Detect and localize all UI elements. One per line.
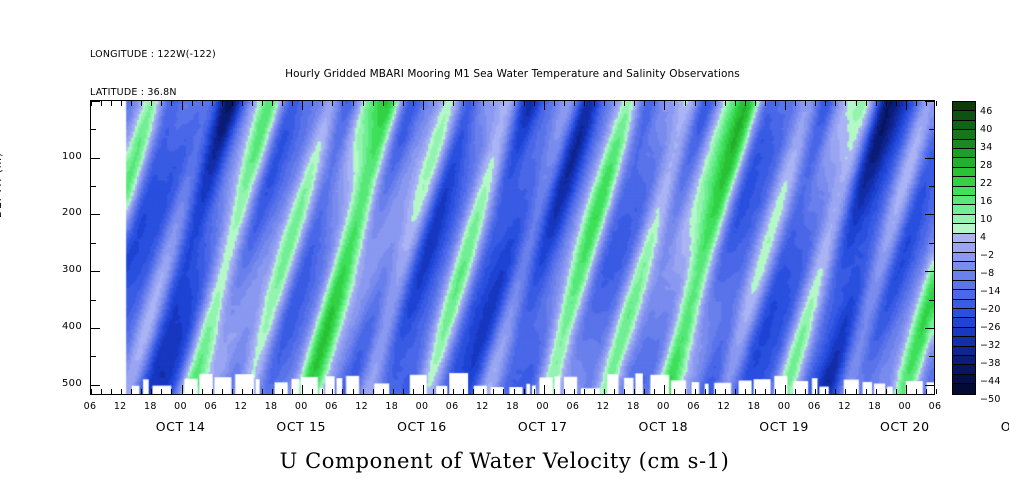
colorbar-segment bbox=[953, 318, 975, 327]
x-tick-label: 18 bbox=[740, 401, 768, 412]
colorbar-tick-label: 22 bbox=[980, 178, 993, 189]
x-tick-label: 12 bbox=[710, 401, 738, 412]
y-tick-label: 300 bbox=[42, 264, 82, 275]
colorbar-segment bbox=[953, 205, 975, 214]
x-tick-label: 00 bbox=[287, 401, 315, 412]
x-tick-label: 00 bbox=[770, 401, 798, 412]
x-tick-label: 18 bbox=[499, 401, 527, 412]
colorbar-segment bbox=[953, 384, 975, 393]
colorbar-tick-label: −14 bbox=[980, 286, 1001, 297]
x-tick-label: 06 bbox=[559, 401, 587, 412]
figure-caption: U Component of Water Velocity (cm s-1) bbox=[0, 449, 1009, 473]
colorbar-tick-label: 34 bbox=[980, 142, 993, 153]
x-tick-label: 06 bbox=[800, 401, 828, 412]
colorbar-segment bbox=[953, 290, 975, 299]
colorbar-tick-label: −38 bbox=[980, 358, 1001, 369]
colorbar-tick-label: −2 bbox=[980, 250, 994, 261]
colorbar-tick-label: −8 bbox=[980, 268, 994, 279]
colorbar-segment bbox=[953, 168, 975, 177]
colorbar-tick-label: 46 bbox=[980, 106, 993, 117]
colorbar-segment bbox=[953, 309, 975, 318]
x-tick-label: 12 bbox=[106, 401, 134, 412]
x-tick-label: 06 bbox=[197, 401, 225, 412]
colorbar-segment bbox=[953, 243, 975, 252]
y-tick-label: 400 bbox=[42, 321, 82, 332]
x-tick-label: 06 bbox=[438, 401, 466, 412]
colorbar-tick-label: −50 bbox=[980, 394, 1001, 405]
x-tick-label: 12 bbox=[589, 401, 617, 412]
x-tick-label: 00 bbox=[167, 401, 195, 412]
colorbar-segment bbox=[953, 365, 975, 374]
colorbar-segment bbox=[953, 111, 975, 120]
x-date-label: OCT 14 bbox=[126, 419, 236, 434]
x-date-label: OCT 21 bbox=[971, 419, 1009, 434]
colorbar-tick-label: 40 bbox=[980, 124, 993, 135]
velocity-heatmap bbox=[91, 101, 934, 394]
x-tick-label: 12 bbox=[468, 401, 496, 412]
x-date-label: OCT 18 bbox=[608, 419, 718, 434]
x-date-label: OCT 20 bbox=[850, 419, 960, 434]
colorbar-segment bbox=[953, 177, 975, 186]
x-date-label: OCT 15 bbox=[246, 419, 356, 434]
colorbar-tick-label: −44 bbox=[980, 376, 1001, 387]
colorbar-segment bbox=[953, 224, 975, 233]
x-tick-label: 00 bbox=[529, 401, 557, 412]
x-tick-label: 18 bbox=[136, 401, 164, 412]
colorbar-segment bbox=[953, 187, 975, 196]
colorbar-segment bbox=[953, 347, 975, 356]
colorbar-tick-label: 4 bbox=[980, 232, 986, 243]
x-date-label: OCT 17 bbox=[488, 419, 598, 434]
colorbar-segment bbox=[953, 300, 975, 309]
x-tick-label: 06 bbox=[680, 401, 708, 412]
colorbar-segment bbox=[953, 328, 975, 337]
x-tick-label: 18 bbox=[378, 401, 406, 412]
plot-title: Hourly Gridded MBARI Mooring M1 Sea Wate… bbox=[90, 68, 935, 80]
colorbar-segment bbox=[953, 356, 975, 365]
colorbar-segment bbox=[953, 121, 975, 130]
colorbar-tick-label: −26 bbox=[980, 322, 1001, 333]
y-axis-title: DEPTH (m) bbox=[0, 152, 4, 218]
colorbar bbox=[952, 101, 976, 395]
x-tick-label: 12 bbox=[830, 401, 858, 412]
latitude-line: LATITUDE : 36.8N bbox=[90, 87, 216, 100]
colorbar-segment bbox=[953, 281, 975, 290]
colorbar-segment bbox=[953, 102, 975, 111]
y-tick-label: 500 bbox=[42, 378, 82, 389]
colorbar-tick-label: 28 bbox=[980, 160, 993, 171]
colorbar-segment bbox=[953, 337, 975, 346]
x-tick-label: 00 bbox=[408, 401, 436, 412]
colorbar-segment bbox=[953, 253, 975, 262]
colorbar-tick-label: −32 bbox=[980, 340, 1001, 351]
plot-area bbox=[90, 100, 935, 395]
colorbar-segment bbox=[953, 158, 975, 167]
x-date-label: OCT 19 bbox=[729, 419, 839, 434]
colorbar-segment bbox=[953, 140, 975, 149]
x-tick-label: 18 bbox=[619, 401, 647, 412]
x-tick-label: 00 bbox=[649, 401, 677, 412]
colorbar-segment bbox=[953, 130, 975, 139]
colorbar-segment bbox=[953, 196, 975, 205]
colorbar-segment bbox=[953, 215, 975, 224]
x-tick-label: 06 bbox=[317, 401, 345, 412]
colorbar-segment bbox=[953, 149, 975, 158]
x-tick-label: 12 bbox=[227, 401, 255, 412]
x-tick-label: 12 bbox=[348, 401, 376, 412]
colorbar-segment bbox=[953, 262, 975, 271]
x-tick-label: 06 bbox=[76, 401, 104, 412]
longitude-line: LONGITUDE : 122W(-122) bbox=[90, 49, 216, 62]
colorbar-segment bbox=[953, 375, 975, 384]
x-tick-label: 06 bbox=[921, 401, 949, 412]
x-tick-label: 00 bbox=[891, 401, 919, 412]
colorbar-tick-label: 10 bbox=[980, 214, 993, 225]
x-date-label: OCT 16 bbox=[367, 419, 477, 434]
colorbar-segment bbox=[953, 234, 975, 243]
colorbar-tick-label: 16 bbox=[980, 196, 993, 207]
x-tick-label: 18 bbox=[257, 401, 285, 412]
colorbar-segment bbox=[953, 271, 975, 280]
x-tick-label: 18 bbox=[861, 401, 889, 412]
y-tick-label: 100 bbox=[42, 151, 82, 162]
y-tick-label: 200 bbox=[42, 207, 82, 218]
colorbar-tick-label: −20 bbox=[980, 304, 1001, 315]
